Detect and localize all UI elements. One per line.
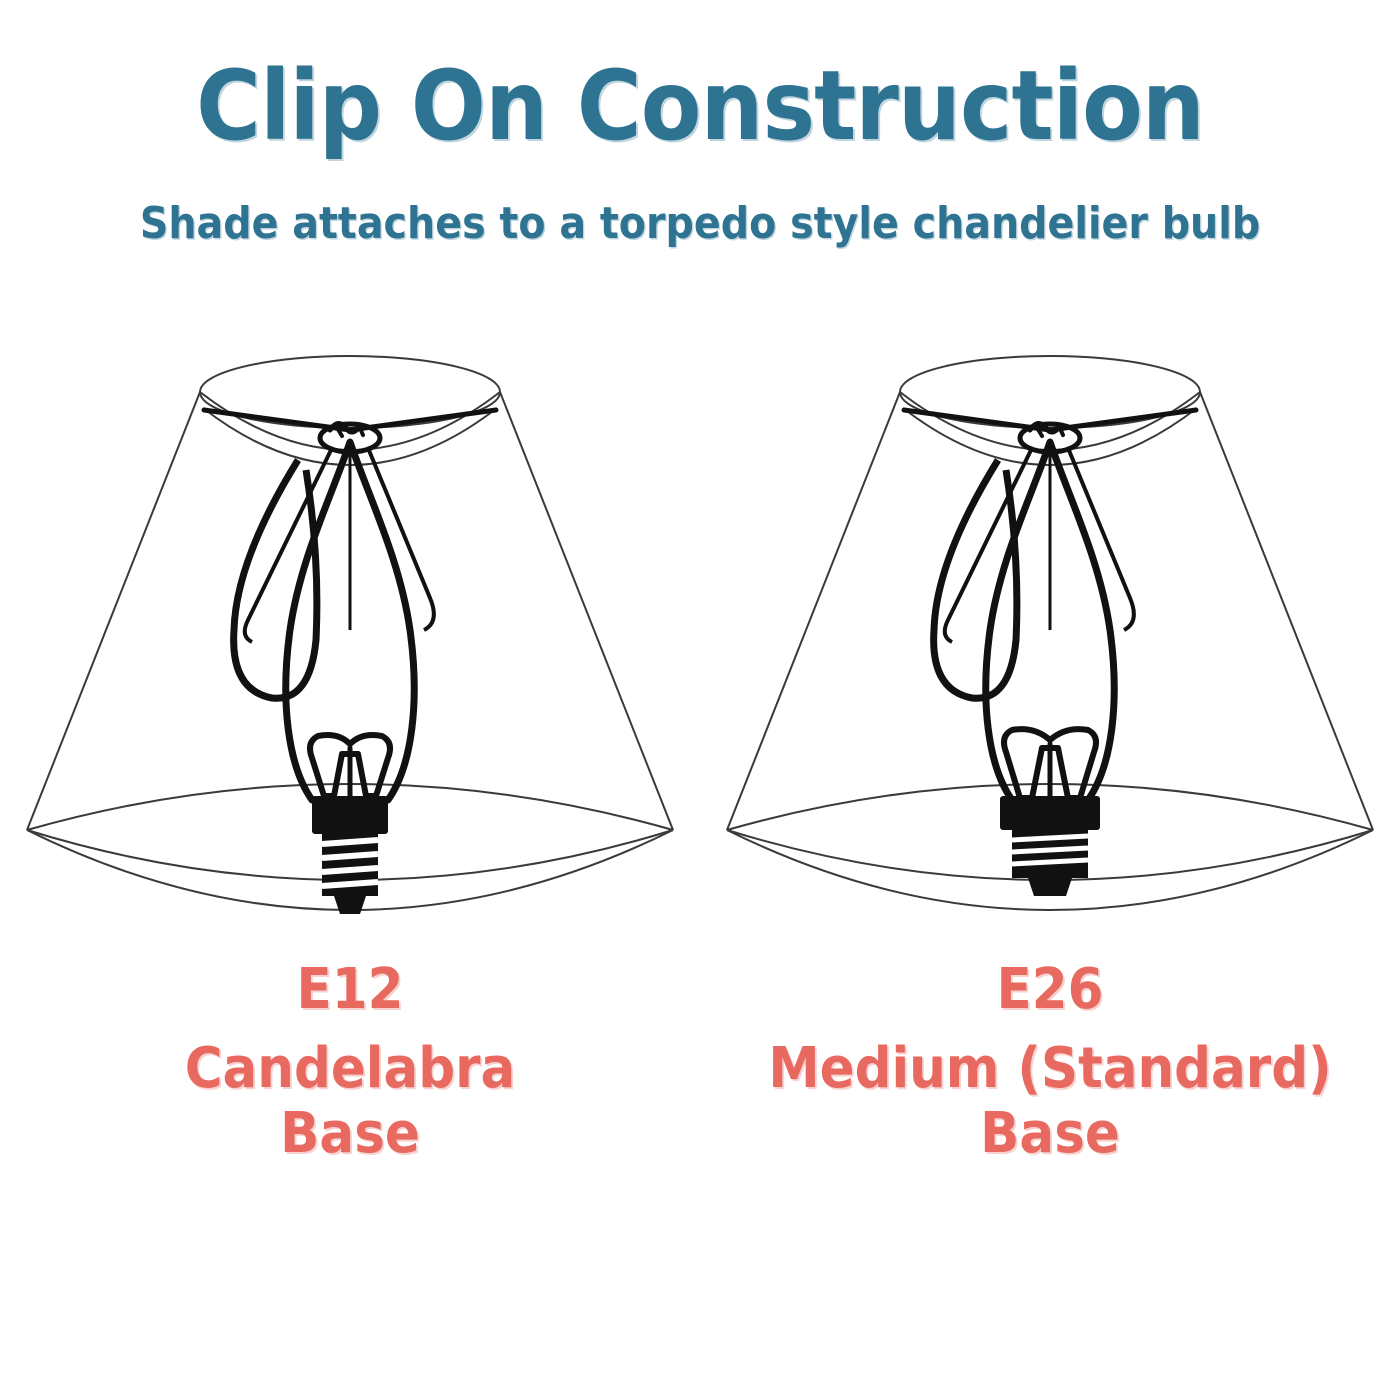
base-name-line-2: Base [28,1102,672,1166]
base-name-label-e26: Medium (Standard) Base [728,1037,1372,1166]
bulb-base-tip-contact [334,896,366,914]
base-name-line-1: Medium (Standard) [728,1037,1372,1101]
bulb-base-e26-group [1000,796,1100,896]
lampshade-e26-illustration [700,330,1400,970]
base-name-line-2: Base [728,1102,1372,1166]
page-title-container: Clip On Construction [0,58,1400,154]
bulb-filament-group [310,735,390,796]
shade-left-edge [27,392,200,830]
diagram-area [0,330,1400,970]
page-title: Clip On Construction [56,58,1344,154]
page-subtitle: Shade attaches to a torpedo style chande… [70,202,1330,246]
clip-arm-right [1068,448,1134,630]
lampshade-e12-illustration [0,330,700,970]
lamp-figure-e26 [700,330,1400,970]
caption-e12: E12 Candelabra Base [0,960,700,1166]
base-code-label-e26: E26 [728,960,1372,1019]
base-name-label-e12: Candelabra Base [28,1037,672,1166]
base-name-line-1: Candelabra [28,1037,672,1101]
clip-arm-right [368,448,434,630]
base-code-label-e12: E12 [28,960,672,1019]
lamp-figure-e12 [0,330,700,970]
bulb-base-collar [312,796,388,834]
bulb-base-e12-group [312,796,388,914]
shade-right-edge [1200,392,1373,830]
bulb-base-collar [1000,796,1100,830]
bulb-filament-group [1004,729,1096,798]
clip-on-construction-infographic: Clip On Construction Shade attaches to a… [0,0,1400,1400]
bulb-base-tip-contact [1028,878,1072,896]
caption-e26: E26 Medium (Standard) Base [700,960,1400,1166]
shade-left-edge [727,392,900,830]
shade-right-edge [500,392,673,830]
page-subtitle-container: Shade attaches to a torpedo style chande… [0,202,1400,246]
